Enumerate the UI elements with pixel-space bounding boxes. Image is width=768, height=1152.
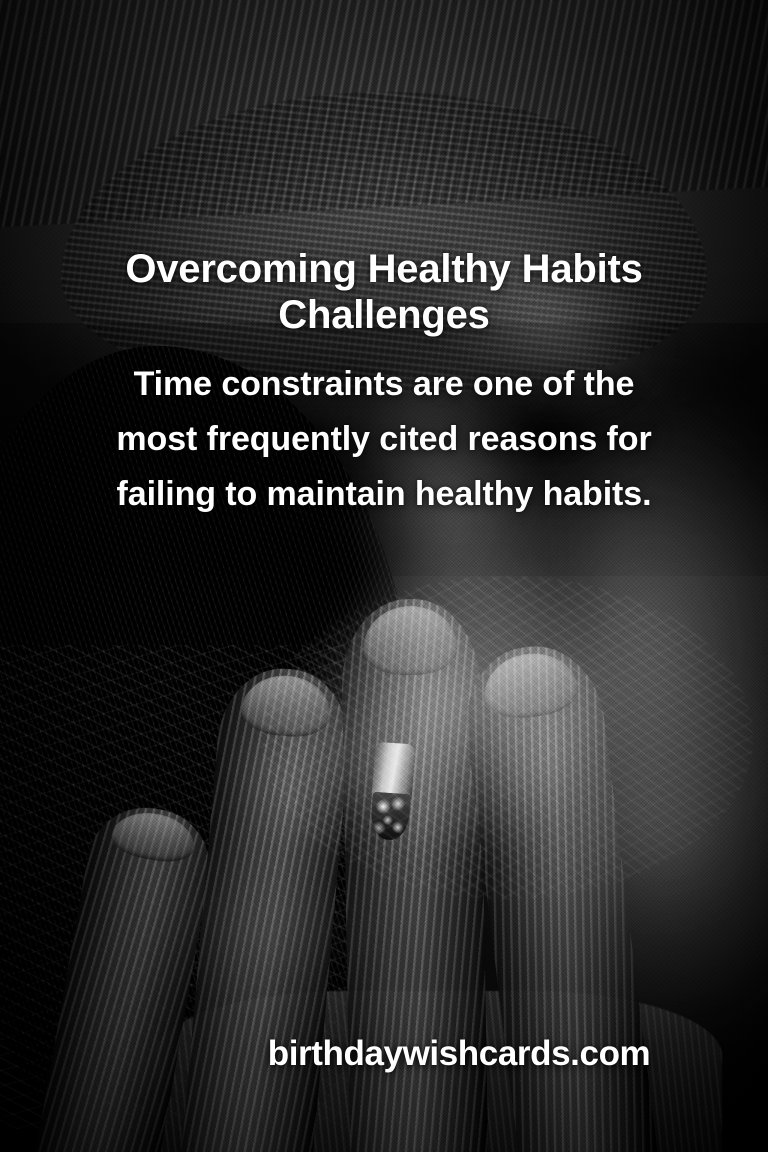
body-copy: Time constraints are one of the most fre… [38, 357, 730, 522]
background-photo [0, 0, 768, 1152]
quote-poster: Overcoming Healthy Habits Challenges Tim… [0, 0, 768, 1152]
headline: Overcoming Healthy Habits Challenges [38, 246, 730, 339]
quote-text-block: Overcoming Healthy Habits Challenges Tim… [0, 246, 768, 522]
vignette [0, 0, 768, 1152]
site-watermark: birthdaywishcards.com [0, 1034, 768, 1074]
